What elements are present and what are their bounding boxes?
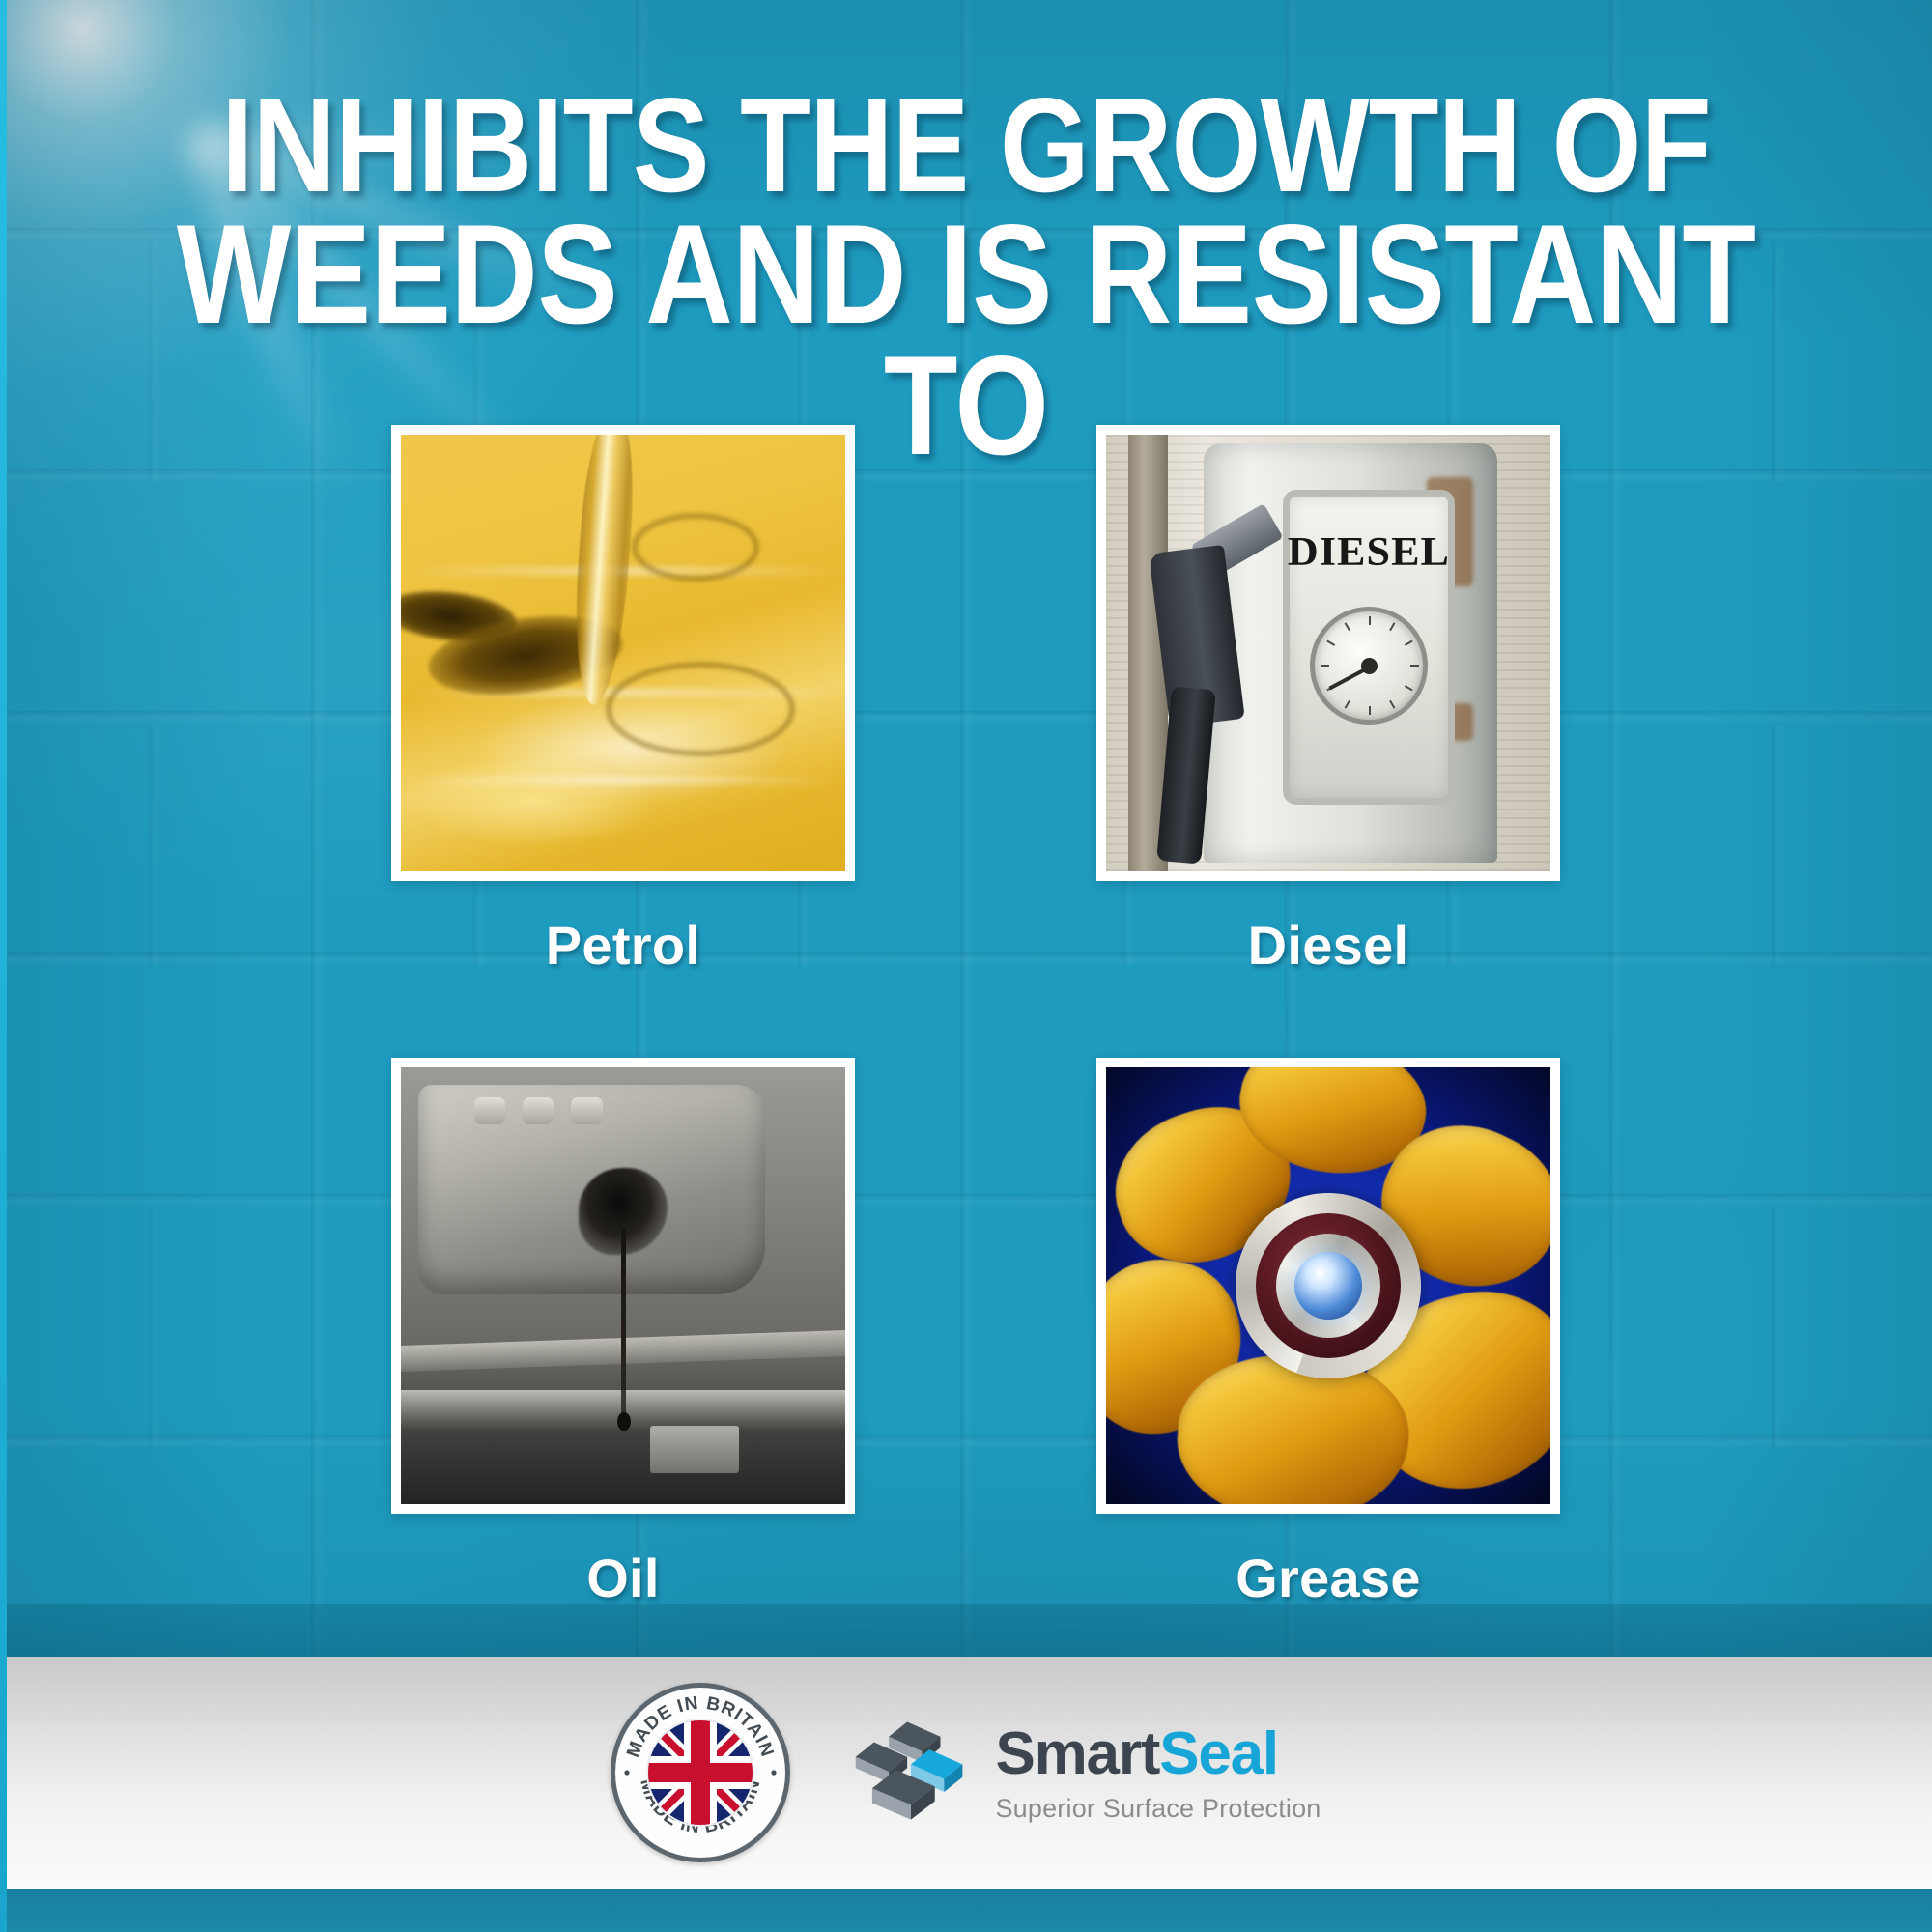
oil-ripple-ring <box>632 513 759 582</box>
pump-front-panel: DIESEL <box>1283 490 1455 805</box>
photo-frame-diesel: DIESEL <box>1096 425 1560 881</box>
under-vehicle-shadow <box>401 1355 845 1504</box>
pump-diesel-sign: DIESEL <box>1286 529 1452 576</box>
caption-petrol: Petrol <box>391 914 855 977</box>
gauge-hub <box>1361 658 1378 674</box>
caption-diesel: Diesel <box>1096 914 1560 977</box>
photo-frame-oil <box>391 1058 855 1514</box>
bearing-bore-highlight <box>1294 1252 1362 1320</box>
photo-frame-petrol <box>391 425 855 881</box>
pump-gauge-dial <box>1310 607 1428 724</box>
footer-bar: MADE IN BRITAIN MADE IN BRITAIN <box>0 1657 1932 1889</box>
made-in-britain-badge: MADE IN BRITAIN MADE IN BRITAIN <box>611 1683 790 1862</box>
pump-housing: DIESEL <box>1204 443 1497 863</box>
brand-name-part-1: Smart <box>995 1720 1159 1787</box>
brand-tagline: Superior Surface Protection <box>995 1796 1321 1822</box>
petrol-pouring-golden-oil-photo <box>401 435 845 871</box>
grid-item-petrol: Petrol <box>391 425 855 977</box>
union-jack-flag <box>648 1720 753 1825</box>
grid-item-grease: Grease <box>1096 1058 1560 1609</box>
bottom-teal-strip <box>0 1889 1932 1932</box>
engine-oil-leak-undercarriage-photo <box>401 1067 845 1504</box>
smartseal-wordmark: SmartSeal Superior Surface Protection <box>995 1724 1321 1822</box>
caption-oil: Oil <box>391 1547 855 1609</box>
headline: INHIBITS THE GROWTH OF WEEDS AND IS RESI… <box>135 83 1797 472</box>
oil-surface-wave <box>401 776 845 785</box>
grid-item-diesel: DIESEL <box>1096 425 1560 977</box>
sump-ridge <box>474 1097 505 1124</box>
sump-ridge <box>523 1097 554 1124</box>
photo-frame-grease <box>1096 1058 1560 1514</box>
smartseal-logo: SmartSeal Superior Surface Protection <box>850 1713 1321 1833</box>
grid-item-oil: Oil <box>391 1058 855 1609</box>
oil-ripple-ring <box>606 662 795 756</box>
bottom-shadow-band <box>0 1604 1932 1657</box>
promotional-poster: INHIBITS THE GROWTH OF WEEDS AND IS RESI… <box>0 0 1932 1932</box>
left-edge-accent <box>0 0 7 1932</box>
sump-ridge <box>571 1097 602 1124</box>
brand-name-part-2: Seal <box>1159 1720 1278 1787</box>
smartseal-paver-blocks-logo <box>850 1713 970 1833</box>
diesel-fuel-pump-photo: DIESEL <box>1106 435 1550 871</box>
greased-ball-bearing-photo <box>1106 1067 1550 1504</box>
caption-grease: Grease <box>1096 1547 1560 1609</box>
